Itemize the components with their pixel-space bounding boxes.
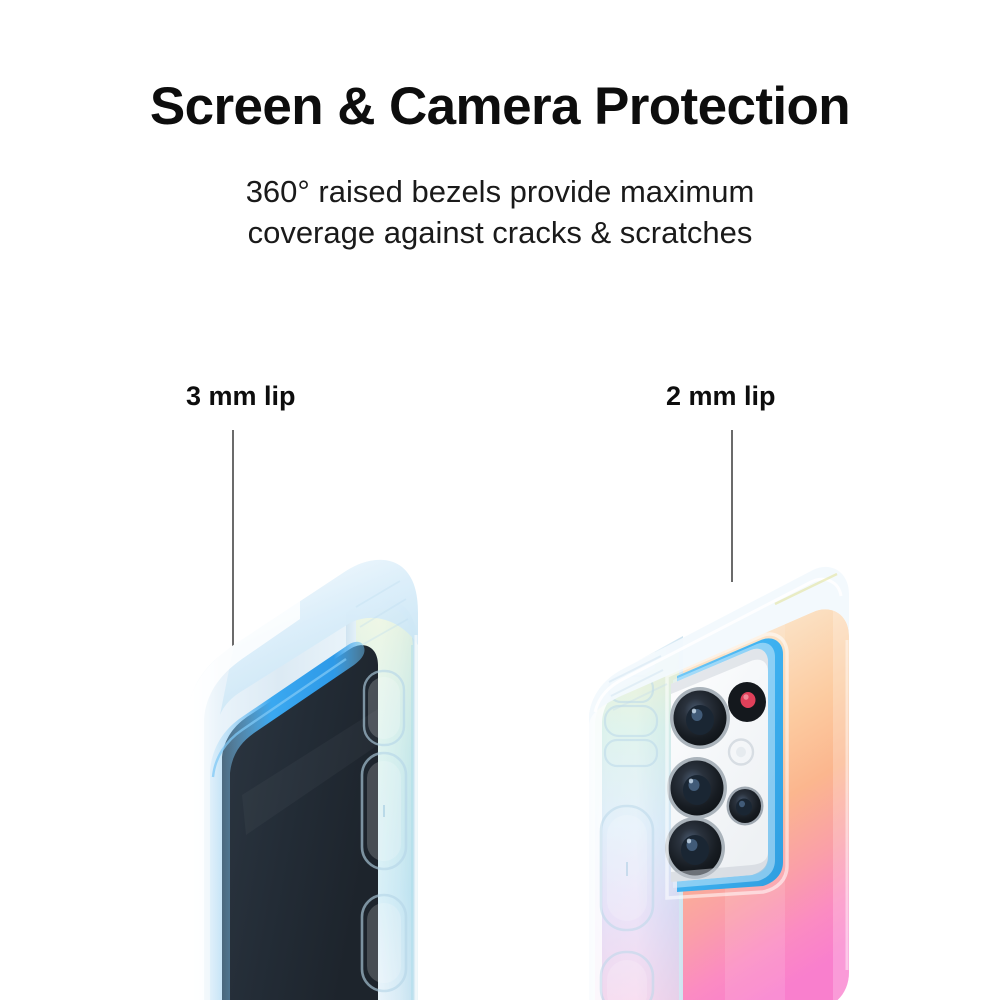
camera-module [665,638,783,892]
subtitle-line-1: 360° raised bezels provide maximum [246,174,755,209]
left-case-button-cutouts [362,671,406,991]
camera-lens-2 [667,757,727,819]
product-feature-graphic: Screen & Camera Protection 360° raised b… [0,0,1000,1000]
camera-lens-4 [727,787,764,826]
subtitle-line-2: coverage against cracks & scratches [0,213,1000,254]
callout-label-2mm-lip: 2 mm lip [666,381,776,412]
callout-label-3mm-lip: 3 mm lip [186,381,296,412]
page-title: Screen & Camera Protection [0,78,1000,135]
phone-right-rear-view [575,500,875,1000]
page-subtitle: 360° raised bezels provide maximum cover… [0,172,1000,254]
camera-lens-1 [670,687,730,749]
camera-flash [728,682,766,722]
phone-left-side-profile [150,495,460,1000]
